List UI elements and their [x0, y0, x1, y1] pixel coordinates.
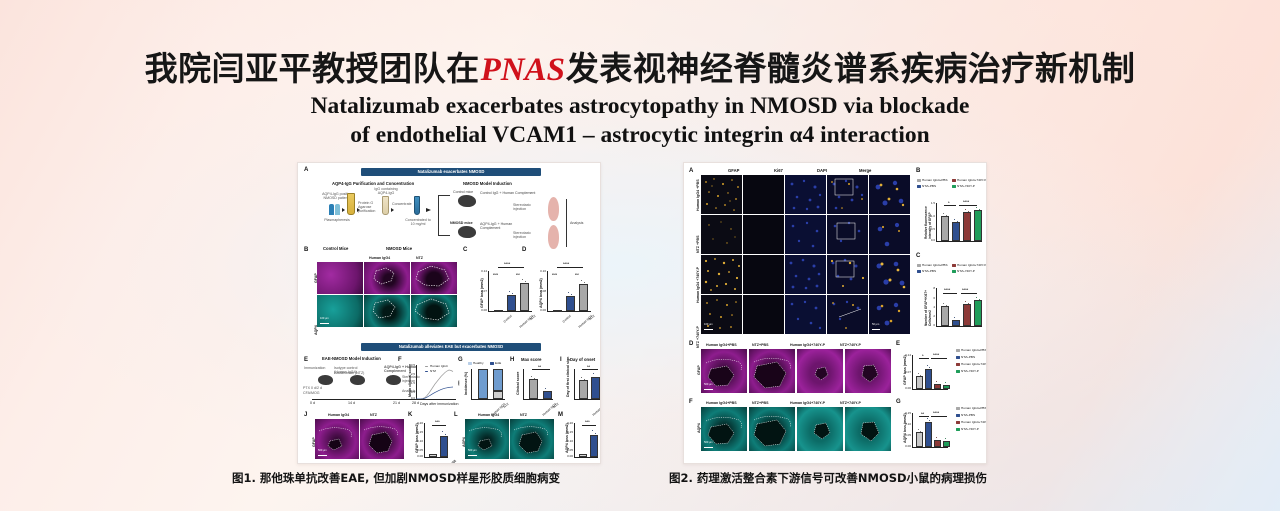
- fig1-label-stereotaxic-2: Stereotaxic injection: [513, 231, 537, 239]
- fig1-panelE-time-2: 21 d: [393, 401, 400, 405]
- fig1-panel-H-letter: H: [510, 357, 514, 363]
- fig1-panelM-xtick-1: NTZ: [600, 459, 601, 464]
- fig1-panelE-time-0: 0 d: [310, 401, 315, 405]
- fig1-panelI-sig: **: [587, 364, 590, 369]
- fig1-panelM-ytick-2: 0.10: [561, 439, 573, 443]
- fig2-panelE-legend-swatch-2: [956, 363, 960, 366]
- fig2-panelG-ytick-1: 0.05: [899, 433, 911, 437]
- fig1-panelC-ytick-1: 0.07: [474, 289, 487, 293]
- fig1-panelG-legend-swatch-1: [490, 362, 494, 365]
- fig1-panel-M-letter: M: [558, 412, 563, 418]
- fig2-panelC-sig-right: ****: [962, 287, 968, 292]
- nuclei-icon: [785, 215, 826, 254]
- fig2-panelC-legend-2: NTZ+PBS: [922, 269, 936, 273]
- fig1-label-proteing: Protein G Agarose purification: [358, 201, 380, 213]
- fig1-panelG-legend-swatch-0: [468, 362, 472, 365]
- fig1-panel-E-letter: E: [304, 357, 308, 363]
- fig1-panelM-bar-humanigg4: [579, 454, 587, 457]
- fig1-panel-A-letter: A: [304, 167, 308, 173]
- micrograph-a-r4c4-merge: [827, 295, 868, 334]
- fig1-panelK-sig: ***: [435, 419, 440, 424]
- arrow-icon-1: [342, 208, 345, 212]
- fig1-panelJ-col-0: Human IgG4: [328, 413, 349, 417]
- merge-overlay-icon: [827, 175, 868, 214]
- fig2-panelD-col-1: NTZ+PBS: [752, 343, 768, 347]
- fig2-panelB-ytick-3: 1.5: [924, 201, 935, 205]
- fig1-panelK-bar-ntz: [440, 436, 448, 457]
- fig1-panelM-bar-ntz: [590, 435, 598, 457]
- fig2-panelF-col-3: NTZ+740Y-P: [840, 401, 861, 405]
- fig1-panelF-legend-swatch-0: [425, 366, 428, 367]
- fig2-panelB-bar-3: [974, 210, 982, 241]
- lesion-outline-icon: [797, 407, 843, 451]
- fig2-panelA-row-1: NTZ +PBS: [696, 236, 700, 253]
- figure-1-panel: Natalizumab exacerbates NMOSD A AQP4-IgG…: [297, 162, 601, 464]
- fig1-panelM-ytick-3: 0.15: [561, 430, 573, 434]
- scalebar-icon-fig2-right: [872, 329, 880, 330]
- fig2-panelC-legend-1: Human IgG4+740Y-P: [957, 263, 986, 267]
- merge-overlay-icon: [827, 255, 868, 294]
- micrograph-a-r1c5-zoom: [869, 175, 910, 214]
- fig1-panelG-bar-ntz-eae: [493, 369, 503, 391]
- merge-overlay-icon: [827, 295, 868, 334]
- fig1-panelD-sig-top: ****: [563, 261, 569, 266]
- fig2-panelG-legend-swatch-3: [956, 428, 960, 431]
- fig1-panelB-scale-label: 100 μm: [320, 317, 329, 320]
- lesion-outline-icon: [364, 295, 410, 327]
- fig2-panelG-bar-3: [943, 441, 950, 447]
- fig1-panelM-ytick-1: 0.05: [561, 448, 573, 452]
- lesion-outline-icon: [749, 407, 795, 451]
- fig2-panelG-legend-1: NTZ+PBS: [961, 413, 975, 417]
- fig2-panelB-legend-2: NTZ+PBS: [922, 184, 936, 188]
- title-journal-pnas: PNAS: [480, 52, 566, 88]
- fig2-panelE-legend-2: Human IgG4+740Y-P: [961, 362, 987, 366]
- fig2-panelG-sig-right: ****: [933, 410, 939, 415]
- micrograph-a-r3c5-zoom: [869, 255, 910, 294]
- fig1-panelG-ylabel: Incidence (%): [464, 372, 468, 395]
- fig1-panelK-ytick-1: 0.05: [411, 448, 423, 452]
- fig2-panelE-ytick-0: 0.00: [899, 386, 911, 390]
- fig2-panelB-bar-2: [963, 212, 971, 241]
- fig1-panelC-xtick-0: Control: [503, 314, 513, 324]
- fig1-panelB-col-ntz: NTZ: [416, 256, 423, 260]
- fig1-panelD-ytick-0: 0.00: [533, 308, 546, 312]
- scalebar-icon-panelB: [320, 323, 329, 324]
- lesion-outline-icon: [749, 349, 795, 393]
- fig2-panelC-legend-swatch-3: [952, 270, 956, 273]
- fig1-panelL-col-1: NTZ: [520, 413, 527, 417]
- fig1-panelE-label-ntz: Natalizumab (NTZ): [334, 371, 368, 375]
- fig2-panelB-legend-swatch-0: [917, 179, 921, 182]
- fig1-panelF-legend-1: NTZ: [430, 369, 436, 373]
- fig1-panelM-sig: ***: [585, 419, 590, 424]
- fig2-panelC-ytick-3: 6: [926, 296, 935, 300]
- fig2-panelG-legend-swatch-0: [956, 407, 960, 410]
- fig2-panel-D-letter: D: [689, 341, 693, 347]
- fig1-panelE-heading: EAE-NMOSD Model Induction: [322, 357, 381, 362]
- scalebar-icon-panelJ: [318, 455, 327, 456]
- lesion-outline-icon: [364, 262, 410, 294]
- fig2-panelG-legend-0: Human IgG4+PBS: [961, 406, 987, 410]
- fig1-label-plasmapheresis: Plasmapheresis: [323, 218, 351, 222]
- fig2-panelC-legend-swatch-0: [917, 264, 921, 267]
- fig2-panelA-col-ki67: Ki67: [774, 169, 783, 174]
- fig2-panelF-col-0: Human IgG4+PBS: [706, 401, 737, 405]
- micrograph-a-r1c2-ki67: [743, 175, 784, 214]
- fig1-label-igg-aqp4: IgG containing AQP4-IgG: [374, 187, 398, 195]
- fig1-panelD-ytick-1: 0.08: [533, 289, 546, 293]
- fig2-panelG-ytick-0: 0.00: [899, 444, 911, 448]
- arrow-icon-3: [391, 208, 394, 212]
- micrograph-a-r1c1-gfap: [701, 175, 742, 214]
- micrograph-f-c2: [749, 407, 795, 451]
- fig1-panel-D-letter: D: [522, 247, 526, 253]
- micrograph-a-r3c1-gfap: [701, 255, 742, 294]
- scalebar-icon-fig2-left: [704, 329, 713, 330]
- zoom-overlay-icon: [869, 175, 910, 214]
- micrograph-a-r4c2-ki67: [743, 295, 784, 334]
- fig1-panelM-ytick-4: 0.20: [561, 421, 573, 425]
- micrograph-a-r3c4-merge: [827, 255, 868, 294]
- fig1-panel-C-letter: C: [463, 247, 467, 253]
- fig2-panelB-yaxis: [936, 203, 937, 241]
- micrograph-a-r4c3-dapi: [785, 295, 826, 334]
- fig2-panelE-xaxis: [912, 389, 948, 390]
- fig1-panelI-bar-ntz: [591, 377, 600, 399]
- fig2-panelD-col-0: Human IgG4+PBS: [706, 343, 737, 347]
- fig1-panel-L-letter: L: [454, 412, 458, 418]
- merge-overlay-icon: [827, 215, 868, 254]
- fig1-panelB-group-nmosd: NMOSD Mice: [386, 247, 412, 252]
- fig2-panelB-legend-0: Human IgG4+PBS: [922, 178, 948, 182]
- fig2-panelE-ytick-2: 0.14: [899, 353, 911, 357]
- arrow-icon-4: [426, 208, 431, 212]
- fig2-panelC-xaxis: [936, 326, 982, 327]
- fig1-panelM-ytick-0: 0.00: [561, 454, 573, 458]
- fig1-panelC-ylabel: GFAP loss (mm2): [480, 278, 484, 308]
- fig1-panelD-ylabel: AQP4 loss (mm2): [539, 278, 543, 308]
- micrograph-aqp4-igg4: [364, 295, 410, 327]
- lesion-outline-icon: [845, 407, 891, 451]
- fig2-panelA-row-3: NTZ +740Y-P: [696, 326, 700, 348]
- fig2-panelF-col-1: NTZ+PBS: [752, 401, 768, 405]
- poster-canvas: 我院闫亚平教授团队在PNAS发表视神经脊髓炎谱系疾病治疗新机制 Natalizu…: [0, 0, 1280, 511]
- fig2-panelC-bar-0: [941, 306, 949, 326]
- zoom-overlay-icon: [869, 215, 910, 254]
- micrograph-a-r2c2-ki67: [743, 215, 784, 254]
- fig1-panelI-yaxis: [574, 369, 575, 399]
- title-en-line-1: Natalizumab exacerbates astrocytopathy i…: [0, 92, 1280, 121]
- fig1-panelF-sig: ****: [457, 381, 461, 386]
- fig2-panelG-legend-swatch-1: [956, 414, 960, 417]
- micrograph-a-r3c2-ki67: [743, 255, 784, 294]
- fig2-panelA-scale-right: 50 μm: [872, 323, 879, 326]
- fig2-panelA-col-gfap: GFAP: [728, 169, 739, 174]
- fig1-label-aqp4-complement: AQP4-IgG + Human Complement: [480, 222, 526, 230]
- zoom-overlay-icon: [869, 255, 910, 294]
- fig2-panelE-bar-2: [934, 384, 941, 389]
- fig2-panel-B-letter: B: [916, 168, 920, 174]
- fig2-panelG-ytick-2: 0.10: [899, 422, 911, 426]
- fig1-panelK-ytick-4: 0.20: [411, 421, 423, 425]
- fig1-panelJ-col-1: NTZ: [370, 413, 377, 417]
- mouse-icon-e3: [386, 375, 401, 385]
- micrograph-a-r2c4-merge: [827, 215, 868, 254]
- fig1-label-nmosd-mice: NMOSD mice: [450, 221, 473, 225]
- fig2-panelB-legend-swatch-3: [952, 185, 956, 188]
- fig2-panelD-scale: 500 μm: [704, 383, 713, 386]
- fig2-panelC-bar-2: [963, 304, 971, 326]
- fig1-panelH-xaxis: [523, 399, 553, 400]
- fig2-panelE-legend-1: NTZ+PBS: [961, 355, 975, 359]
- fig2-panelB-sig-right: ****: [963, 199, 969, 204]
- fig2-panelF-scale: 500 μm: [704, 441, 713, 444]
- fig1-banner-mid: Natalizumab alleviates EAE but exacerbat…: [361, 343, 541, 351]
- fig2-panelE-legend-0: Human IgG4+PBS: [961, 348, 987, 352]
- fig2-panel-E-letter: E: [896, 341, 900, 347]
- figure-2-panel: A GFAP Ki67 DAPI Merge Human IgG4 +PBS N…: [683, 162, 987, 464]
- lesion-outline-icon: [701, 407, 747, 451]
- fig1-panelD-yaxis: [547, 271, 548, 311]
- fig1-panelE-label-ptx: PTX 0 d/2 d: [303, 386, 322, 390]
- fig1-panelE-label-cfamog: CFA/MOG: [303, 391, 320, 395]
- fig2-panelE-bar-3: [943, 385, 950, 389]
- lesion-outline-icon: [411, 295, 457, 327]
- nuclei-icon: [785, 175, 826, 214]
- micrograph-aqp4-ntz: [411, 295, 457, 327]
- fig1-panel-I-letter: I: [560, 357, 562, 363]
- micrograph-d-c1: [701, 349, 747, 393]
- scalebar-icon-panelF: [704, 447, 713, 448]
- fig2-panelB-legend-swatch-2: [917, 185, 921, 188]
- fig2-panelG-legend-2: Human IgG4+740Y-P: [961, 420, 987, 424]
- fig1-panel-F-letter: F: [398, 357, 402, 363]
- fig1-panelI-xaxis: [574, 399, 600, 400]
- spinal-outline-icon: [315, 419, 359, 459]
- micrograph-d-c2: [749, 349, 795, 393]
- fig2-panelC-legend-0: Human IgG4+PBS: [922, 263, 948, 267]
- fig1-panelG-xaxis: [471, 399, 505, 400]
- fig1-panelC-ytick-0: 0.00: [474, 308, 487, 312]
- fig2-panelC-ytick-0: 0: [926, 323, 935, 327]
- fig1-panelH-title: Max score: [521, 358, 541, 363]
- fig1-panelM-xaxis: [574, 457, 598, 458]
- fig1-panelK-xaxis: [424, 457, 448, 458]
- fig1-panelC-sig-left: ****: [493, 273, 498, 277]
- fig2-panelC-yaxis: [936, 288, 937, 326]
- fig1-panel-G-letter: G: [458, 357, 463, 363]
- micrograph-a-r3c3-dapi: [785, 255, 826, 294]
- fig2-panelG-yaxis: [912, 413, 913, 447]
- micrograph-f-c3: [797, 407, 843, 451]
- fig1-panelE-time-3: 28 d: [412, 401, 419, 405]
- mouse-icon-e2: [350, 375, 365, 385]
- fig2-panelC-legend-swatch-2: [917, 270, 921, 273]
- fig2-panelG-sig-left: **: [921, 411, 924, 416]
- fig2-panelC-ytick-4: 8: [926, 286, 935, 290]
- micrograph-spinal-aqp4-ntz: [510, 419, 554, 459]
- fig1-panelD-xtick-0: Control: [562, 314, 572, 324]
- speckle-icon: [701, 255, 742, 294]
- fig1-panelK-ytick-2: 0.10: [411, 439, 423, 443]
- fig1-panelA-heading-right: NMOSD Model Induction: [463, 182, 512, 187]
- fig1-panelF-xaxis: [416, 399, 456, 400]
- fig2-panelD-col-2: Human IgG4+740Y-P: [790, 343, 825, 347]
- fig2-panel-A-letter: A: [689, 168, 693, 174]
- fig2-panelB-legend-1: Human IgG4+740Y-P: [957, 178, 986, 182]
- scalebar-icon-panelD: [704, 389, 713, 390]
- figure-1-caption: 图1. 那他珠单抗改善EAE, 但加剧NMOSD样星形胶质细胞病变: [232, 470, 560, 486]
- micrograph-a-r2c5-zoom: [869, 215, 910, 254]
- fig2-panelF-col-2: Human IgG4+740Y-P: [790, 401, 825, 405]
- fig2-panelG-xaxis: [912, 447, 948, 448]
- fig2-panelE-sig-right: ****: [933, 352, 939, 357]
- fig1-banner-top: Natalizumab exacerbates NMOSD: [361, 168, 541, 176]
- fig1-panelD-bar-control: [553, 310, 562, 312]
- fig1-panelC-bar-ntz: [520, 283, 529, 311]
- spinal-outline-icon: [360, 419, 404, 459]
- fig1-panelE-time-1: 14 d: [348, 401, 355, 405]
- title-en-line-2: of endothelial VCAM1 – astrocytic integr…: [0, 121, 1280, 150]
- fig1-panelE-label-immunization: Immunization: [304, 366, 325, 370]
- fig2-panelC-legend-3: NTZ+740Y-P: [957, 269, 975, 273]
- fig2-panelC-bar-3: [974, 300, 982, 326]
- micrograph-gfap-ntz: [411, 262, 457, 294]
- fig2-panelA-row-0: Human IgG4 +PBS: [696, 179, 700, 211]
- fig2-panelG-legend-swatch-2: [956, 421, 960, 424]
- micrograph-gfap-control: [317, 262, 363, 294]
- fig2-panelE-legend-swatch-3: [956, 370, 960, 373]
- fig2-panelB-ytick-1: 0.5: [924, 227, 935, 231]
- fig1-panelL-scale-label: 500 μm: [468, 449, 477, 452]
- fig2-panelB-sig-left: *: [948, 200, 950, 205]
- fig1-label-concentrate: Concentrate: [392, 202, 410, 206]
- lesion-outline-icon: [797, 349, 843, 393]
- micrograph-d-c4: [845, 349, 891, 393]
- fig2-panelB-bar-0: [941, 216, 949, 241]
- lesion-outline-icon: [701, 349, 747, 393]
- spinal-outline-icon: [510, 419, 554, 459]
- micrograph-a-r1c3-dapi: [785, 175, 826, 214]
- speckle-icon: [701, 175, 742, 214]
- fig2-panelE-bar-0: [916, 376, 923, 389]
- fig1-panelG-bar-humanigg4: [478, 369, 488, 399]
- tube-icon-2: [414, 196, 420, 215]
- fig2-panelA-col-dapi: DAPI: [817, 169, 827, 174]
- fig2-panelE-sig-left: *: [922, 353, 924, 358]
- fig2-panelB-ytick-2: 1.0: [924, 214, 935, 218]
- fig2-panelG-bar-1: [925, 422, 932, 447]
- micrograph-a-r2c1-gfap: [701, 215, 742, 254]
- fig2-panelE-legend-swatch-1: [956, 356, 960, 359]
- micrograph-gfap-igg4: [364, 262, 410, 294]
- spinal-outline-icon: [465, 419, 509, 459]
- fig1-label-control-mice: Control mice: [453, 190, 473, 194]
- fig2-panelA-row-2: Human IgG4 +740Y-P: [696, 267, 700, 303]
- lesion-outline-icon: [411, 262, 457, 294]
- fig1-panelH-yaxis: [523, 369, 524, 399]
- fig2-panelC-sig-left: ****: [944, 287, 950, 292]
- fig1-panelF-legend-swatch-1: [425, 371, 428, 372]
- fig1-panelD-sig-right: ***: [575, 273, 579, 277]
- fig1-panelD-ytick-2: 0.16: [533, 269, 546, 273]
- scalebar-icon-panelL: [468, 455, 477, 456]
- brain-icon-1: [548, 197, 559, 221]
- fig1-panel-B-letter: B: [304, 247, 308, 253]
- fig1-panelF-ytick-3: 1.5: [403, 381, 415, 385]
- fig2-panelB-legend-3: NTZ+740Y-P: [957, 184, 975, 188]
- nuclei-icon: [785, 255, 826, 294]
- fig2-panelG-ylabel: AQP4 loss (mm2): [903, 413, 907, 443]
- fig2-panelC-ytick-1: 2: [926, 314, 935, 318]
- fig1-panelD-bar-humanigg4: [566, 296, 575, 311]
- fig1-panelK-ytick-0: 0.00: [411, 454, 423, 458]
- fig1-panelF-ytick-5: 2.5: [403, 372, 415, 376]
- fig1-panelD-sig-left: ****: [552, 273, 557, 277]
- fig1-panelG-bar-ntz-healthy: [493, 391, 503, 399]
- fig1-panelH-bar-ntz: [543, 391, 552, 399]
- fig2-panel-C-letter: C: [916, 253, 920, 259]
- fig1-panelC-bar-humanigg4: [507, 295, 516, 311]
- fig1-panelB-col-humanigg4: Human IgG4: [369, 256, 390, 260]
- patient-icon-1: [329, 204, 334, 215]
- fig1-panelF-xlabel: Days after immunization: [420, 402, 459, 406]
- patient-icon-2: [335, 204, 340, 215]
- nuclei-icon: [785, 295, 826, 334]
- fig1-panelG-yaxis: [471, 369, 472, 399]
- fig2-panelA-scale-left: 100 μm: [704, 323, 713, 326]
- fig2-panelG-ytick-3: 0.15: [899, 411, 911, 415]
- fig2-panelE-ytick-1: 0.07: [899, 370, 911, 374]
- fig2-panelB-ylabel: Relative fluorescence intensity of GFAP: [924, 199, 932, 239]
- micrograph-f-c1: [701, 407, 747, 451]
- fig1-panelF-ytick-1: 0.5: [403, 390, 415, 394]
- fig1-panelF-ytick-7: 3.5: [403, 363, 415, 367]
- micrograph-a-r1c4-merge: [827, 175, 868, 214]
- fig1-panelC-yaxis: [488, 271, 489, 311]
- fig1-label-analysis: Analysis: [570, 221, 583, 225]
- page-title-english: Natalizumab exacerbates astrocytopathy i…: [0, 92, 1280, 150]
- figure-2-caption: 图2. 药理激活整合素下游信号可改善NMOSD小鼠的病理损伤: [669, 470, 987, 486]
- fig1-panelK-yaxis: [424, 423, 425, 457]
- lesion-outline-icon: [845, 349, 891, 393]
- fig2-panelE-legend-3: NTZ+740Y-P: [961, 369, 979, 373]
- fig1-panelI-title: Day of onset: [570, 358, 595, 363]
- fig2-panelC-legend-swatch-1: [952, 264, 956, 267]
- fig2-panelC-ytick-2: 4: [926, 305, 935, 309]
- fig1-panelG-legend-0: Healthy: [473, 361, 484, 365]
- fig1-panelF-legend-0: Human IgG4: [430, 364, 448, 368]
- fig1-panelK-ytick-3: 0.15: [411, 430, 423, 434]
- fig2-panelB-legend-swatch-1: [952, 179, 956, 182]
- title-cn-after: 发表视神经脊髓炎谱系疾病治疗新机制: [566, 49, 1136, 88]
- fig1-panelK-bar-humanigg4: [429, 454, 437, 457]
- fig1-panel-K-letter: K: [408, 412, 412, 418]
- fig2-panelG-bar-2: [934, 440, 941, 447]
- fig2-panelB-ytick-0: 0.0: [924, 238, 935, 242]
- fig1-panelM-yaxis: [574, 423, 575, 457]
- fig1-panelC-sig-right: ***: [516, 273, 520, 277]
- fig1-panelC-ytick-2: 0.14: [474, 269, 487, 273]
- fig1-panelD-bar-ntz: [579, 284, 588, 311]
- fig1-panelF-ytick-0: 0.0: [403, 396, 415, 400]
- micrograph-d-c3: [797, 349, 843, 393]
- fig1-panelI-xtick-0: Human IgG4: [592, 402, 601, 417]
- column-icon: [347, 193, 355, 215]
- fig2-panel-F-letter: F: [689, 399, 693, 405]
- title-cn-before: 我院闫亚平教授团队在: [145, 49, 480, 88]
